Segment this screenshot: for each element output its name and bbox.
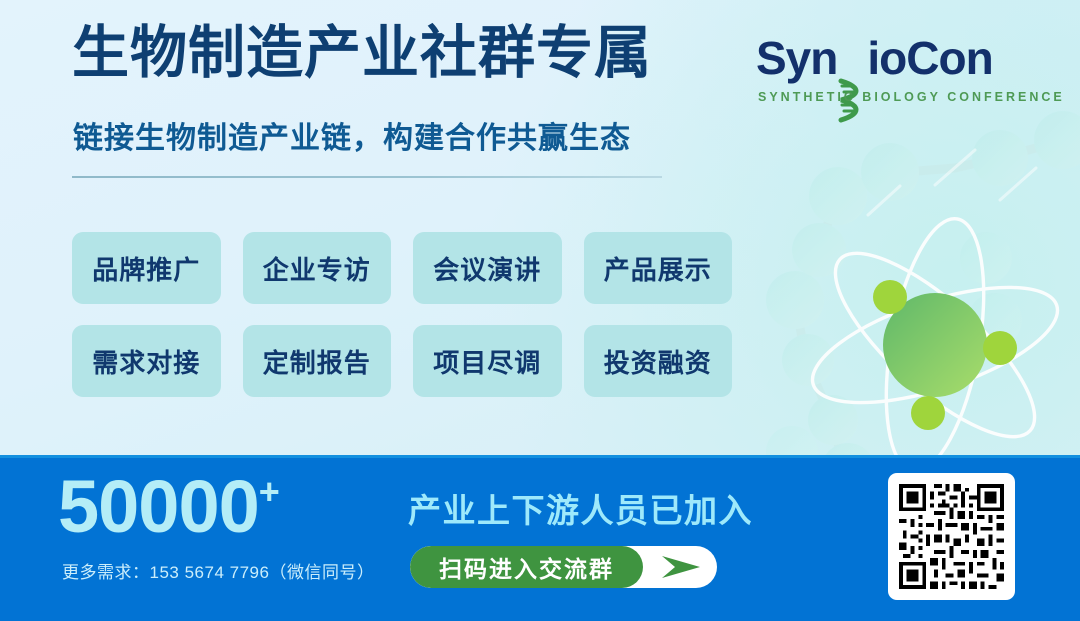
tag-brand-promotion[interactable]: 品牌推广 [72, 232, 221, 304]
promo-banner: 生物制造产业社群专属 链接生物制造产业链，构建合作共赢生态 Syn ioCon … [0, 0, 1080, 621]
service-tag-grid: 品牌推广 企业专访 会议演讲 产品展示 需求对接 定制报告 项目尽调 投资融资 [72, 232, 732, 418]
join-group-label: 扫码进入交流群 [410, 546, 643, 588]
header-divider [72, 176, 662, 178]
tag-investment-financing[interactable]: 投资融资 [584, 325, 733, 397]
tag-product-showcase[interactable]: 产品展示 [584, 232, 733, 304]
atom-electron [911, 396, 945, 430]
qr-code-image [895, 480, 1008, 593]
arrow-right-icon [643, 554, 717, 580]
tag-company-interview[interactable]: 企业专访 [243, 232, 392, 304]
qr-code[interactable] [888, 473, 1015, 600]
logo-text-io: io [867, 32, 906, 84]
member-count-number: 50000 [58, 465, 259, 548]
logo-text-con: Con [906, 32, 992, 84]
contact-line: 更多需求：153 5674 7796（微信同号） [62, 558, 374, 583]
joined-label: 产业上下游人员已加入 [408, 484, 753, 532]
tag-custom-report[interactable]: 定制报告 [243, 325, 392, 397]
member-count: 50000+ [58, 470, 280, 544]
tag-demand-matching[interactable]: 需求对接 [72, 325, 221, 397]
atom-electron [983, 331, 1017, 365]
banner-subtitle: 链接生物制造产业链，构建合作共赢生态 [73, 122, 631, 155]
logo-wordmark: Syn ioCon [756, 30, 1036, 86]
footer-top-edge [0, 455, 1080, 458]
member-count-plus: + [259, 471, 280, 512]
bead-chain [766, 111, 1080, 497]
atom-orbits [800, 211, 1071, 478]
synbiocon-logo: Syn ioCon SYNTHETIC BIOLOGY CONFERENCE [756, 30, 1036, 112]
tag-row: 需求对接 定制报告 项目尽调 投资融资 [72, 325, 732, 397]
tag-row: 品牌推广 企业专访 会议演讲 产品展示 [72, 232, 732, 304]
atom-nucleus [883, 293, 987, 397]
logo-text-syn: Syn [756, 32, 837, 84]
join-group-button[interactable]: 扫码进入交流群 [410, 546, 717, 588]
atom-electron [873, 280, 907, 314]
tag-conference-talk[interactable]: 会议演讲 [413, 232, 562, 304]
banner-title: 生物制造产业社群专属 [72, 24, 652, 84]
logo-tagline: SYNTHETIC BIOLOGY CONFERENCE [758, 90, 1036, 104]
tag-project-due-diligence[interactable]: 项目尽调 [413, 325, 562, 397]
